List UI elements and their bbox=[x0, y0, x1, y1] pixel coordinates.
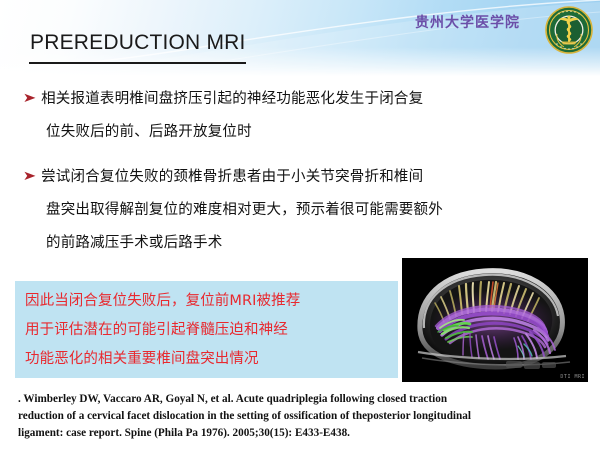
callout-text: 因此当闭合复位失败后，复位前MRI被推荐 用于评估潜在的可能引起脊髓压迫和神经 … bbox=[25, 287, 390, 374]
citation-line-2: reduction of a cervical facet dislocatio… bbox=[18, 408, 588, 425]
citation-line-1: . Wimberley DW, Vaccaro AR, Goyal N, et … bbox=[18, 391, 588, 408]
bullet-point-2: ➤尝试闭合复位失败的颈椎骨折患者由于小关节突骨折和椎间 盘突出取得解剖复位的难度… bbox=[24, 160, 576, 260]
bullet-1-line-1: 相关报道表明椎间盘挤压引起的神经功能恶化发生于闭合复 bbox=[41, 91, 423, 107]
page-title-underline bbox=[29, 62, 246, 64]
bullet-2-line-2: 盘突出取得解剖复位的难度相对更大，预示着很可能需要额外 bbox=[24, 194, 576, 227]
callout-line-2: 用于评估潜在的可能引起脊髓压迫和神经 bbox=[25, 316, 390, 345]
callout-line-1: 因此当闭合复位失败后，复位前MRI被推荐 bbox=[25, 287, 390, 316]
citation-reference: . Wimberley DW, Vaccaro AR, Goyal N, et … bbox=[18, 391, 588, 442]
arrowhead-bullet-icon: ➤ bbox=[23, 82, 37, 115]
university-crest-caduceus-icon bbox=[545, 6, 593, 54]
highlight-callout-box: 因此当闭合复位失败后，复位前MRI被推荐 用于评估潜在的可能引起脊髓压迫和神经 … bbox=[15, 281, 398, 378]
figure-watermark: DTI MRI bbox=[560, 374, 585, 380]
dti-tractography-brain-mri: DTI MRI bbox=[402, 258, 588, 382]
slide-canvas: PREREDUCTION MRI 贵州大学医学院 bbox=[0, 0, 600, 450]
bullet-2-line-1: 尝试闭合复位失败的颈椎骨折患者由于小关节突骨折和椎间 bbox=[41, 169, 423, 185]
bullet-2-line-3: 的前路减压手术或后路手术 bbox=[24, 227, 576, 260]
arrowhead-bullet-icon: ➤ bbox=[23, 160, 37, 193]
citation-line-3: ligament: case report. Spine (Phila Pa 1… bbox=[18, 425, 588, 442]
organization-name: 贵州大学医学院 bbox=[415, 12, 520, 32]
page-title: PREREDUCTION MRI bbox=[30, 31, 246, 55]
bullet-1-line-2: 位失败后的前、后路开放复位时 bbox=[24, 116, 576, 149]
bullet-point-1: ➤相关报道表明椎间盘挤压引起的神经功能恶化发生于闭合复 位失败后的前、后路开放复… bbox=[24, 82, 576, 149]
callout-line-3: 功能恶化的相关重要椎间盘突出情况 bbox=[25, 345, 390, 374]
